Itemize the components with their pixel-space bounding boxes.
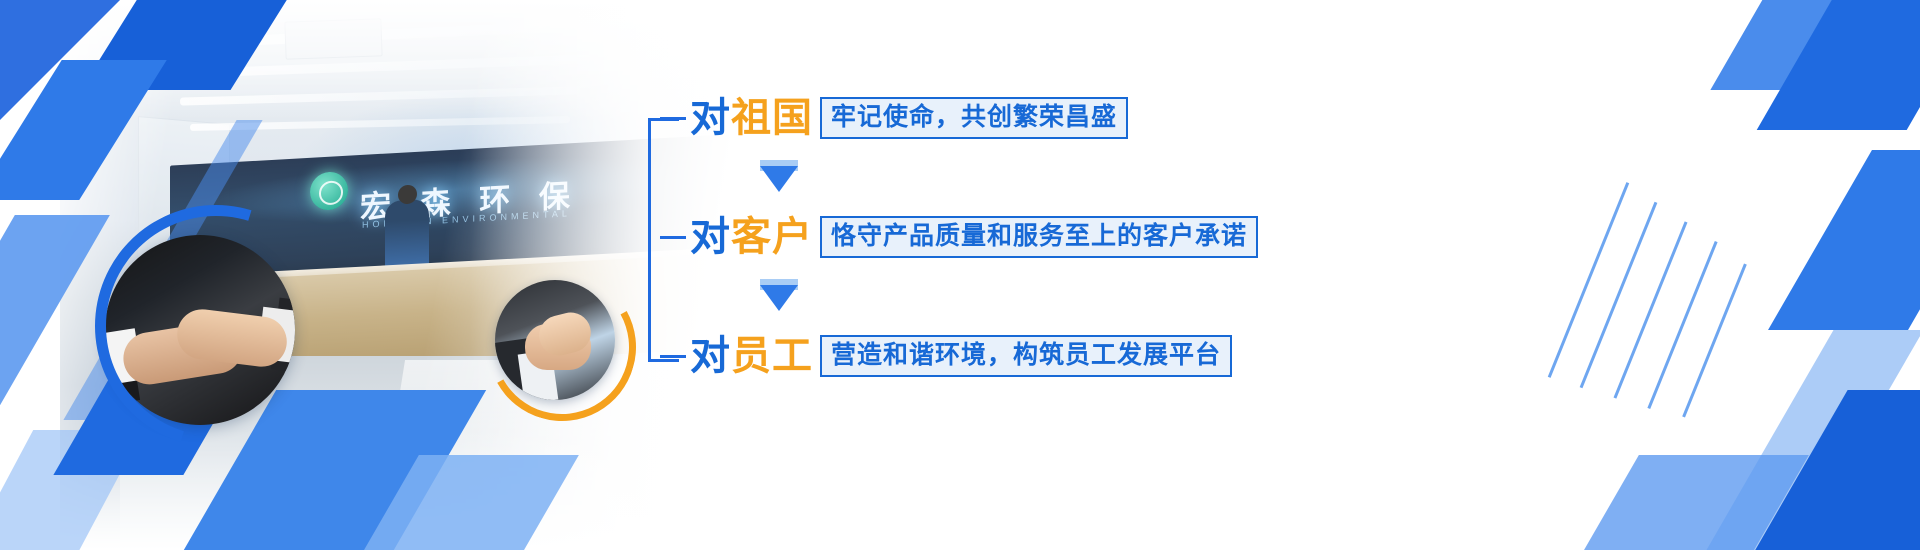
value-heading: 对员工 xyxy=(690,336,813,376)
value-heading: 对客户 xyxy=(690,217,813,257)
company-values-banner: 宏 森 环 保 HONGSEN ENVIRONMENTAL xyxy=(0,0,1920,550)
down-arrow-icon xyxy=(760,285,798,311)
row-connector-stub xyxy=(660,117,686,120)
receptionist-figure xyxy=(385,199,429,269)
value-statement-chip: 营造和谐环境，构筑员工发展平台 xyxy=(820,335,1232,377)
row-connector-stub xyxy=(660,355,686,358)
decorative-diagonal-line xyxy=(1548,182,1629,378)
down-arrow-icon xyxy=(760,166,798,192)
value-target: 祖国 xyxy=(731,96,813,140)
decorative-diagonal-line xyxy=(1682,263,1747,417)
value-row-employee: 对员工 营造和谐环境，构筑员工发展平台 xyxy=(660,330,1232,382)
decorative-parallelogram xyxy=(1768,150,1920,330)
value-statement-chip: 恪守产品质量和服务至上的客户承诺 xyxy=(820,216,1258,258)
value-row-country: 对祖国 牢记使命，共创繁荣昌盛 xyxy=(660,92,1128,144)
decorative-diagonal-line xyxy=(1647,241,1717,409)
values-list: 对祖国 牢记使命，共创繁荣昌盛 对客户 恪守产品质量和服务至上的客户承诺 对员工… xyxy=(648,78,1348,388)
decorative-diagonal-line xyxy=(1614,221,1688,398)
value-row-customer: 对客户 恪守产品质量和服务至上的客户承诺 xyxy=(660,211,1258,263)
value-target: 员工 xyxy=(731,334,813,378)
decorative-diagonal-line xyxy=(1580,202,1658,389)
row-connector-stub xyxy=(660,236,686,239)
value-prefix: 对 xyxy=(690,96,731,140)
value-prefix: 对 xyxy=(690,334,731,378)
value-statement-chip: 牢记使命，共创繁荣昌盛 xyxy=(820,97,1128,139)
value-heading: 对祖国 xyxy=(690,98,813,138)
value-target: 客户 xyxy=(731,215,813,259)
value-prefix: 对 xyxy=(690,215,731,259)
